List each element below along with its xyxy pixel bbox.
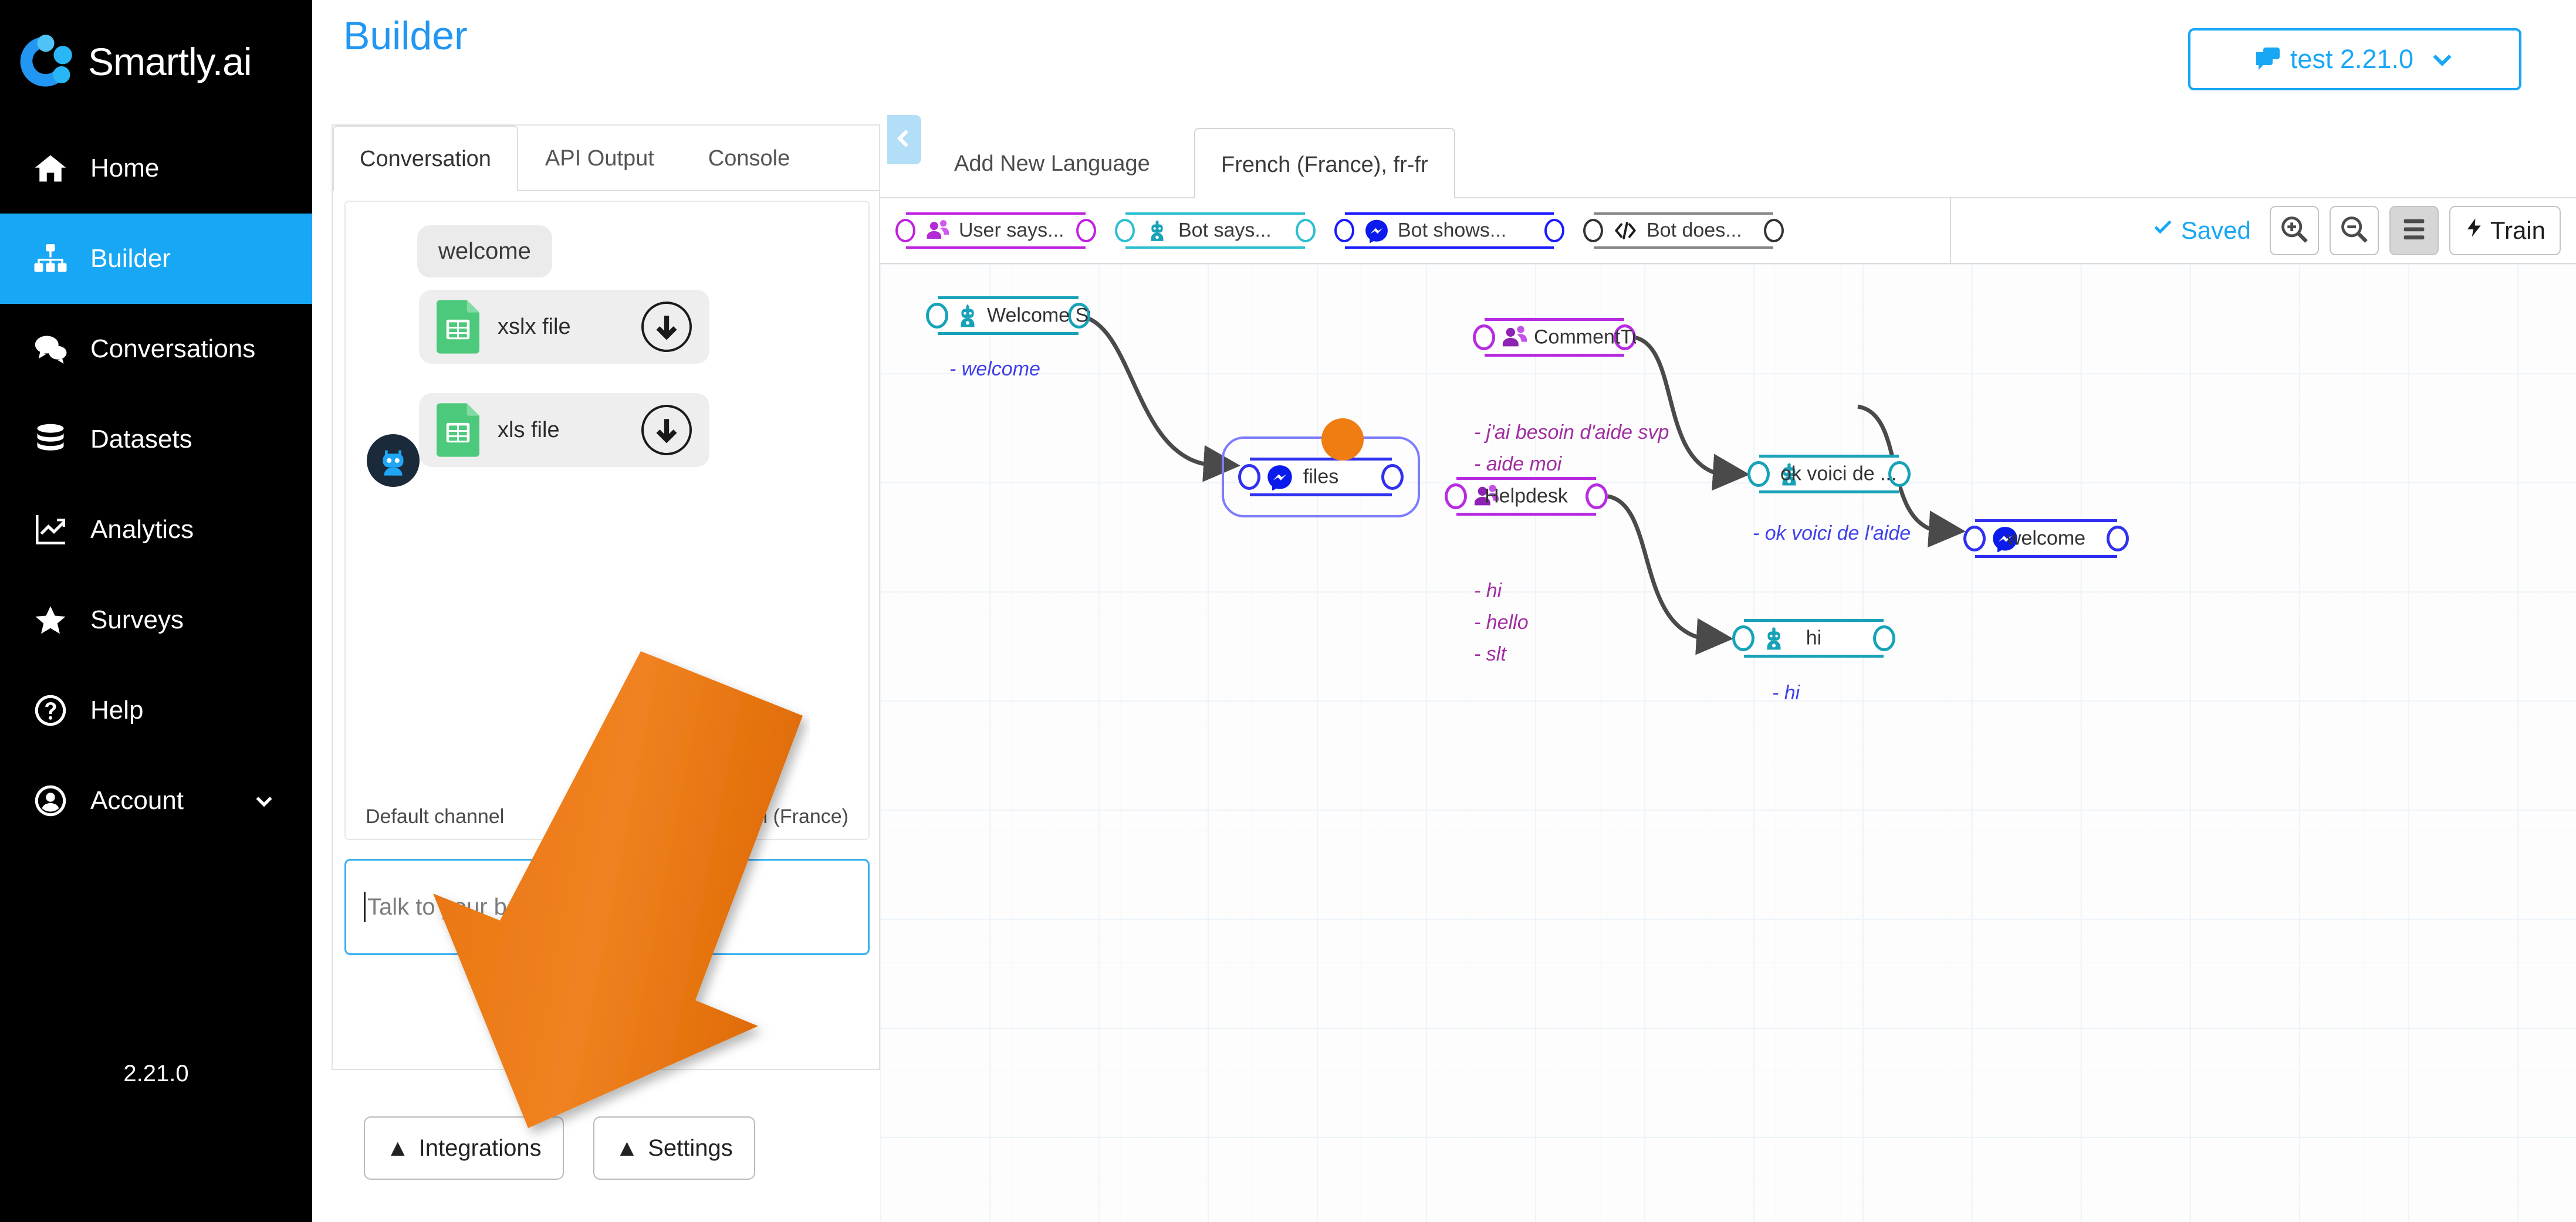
robot-avatar-icon [367,434,420,487]
builder-area: Add New Language French (France), fr-fr … [880,111,2576,1222]
status-badge-saved: Saved [2152,216,2251,245]
text-caret [364,892,366,922]
language-tab-french[interactable]: French (France), fr-fr [1194,128,1455,201]
question-circle-icon [32,692,69,729]
sidebar-item-label: Conversations [90,334,255,364]
bot-selector-dropdown[interactable]: test 2.21.0 [2188,28,2521,90]
chat-input[interactable]: Talk to your bot... [344,859,870,955]
sidebar: Smartly.ai Home Builder Conversations Da [0,0,312,1222]
bot-icon [1144,218,1170,243]
flow-node-label: ok voici de ... [1747,463,1911,486]
flow-node-label: welcome [1963,527,2129,550]
palette-user-says[interactable]: User says... [893,212,1098,249]
sidebar-item-conversations[interactable]: Conversations [0,304,312,394]
chevrons-up-icon: ▲ [386,1136,410,1160]
brand-name: Smartly.ai [88,39,252,84]
node-palette-toolbar: User says... Bot says... Bot shows... [880,198,1951,264]
node-port-left [1583,219,1603,242]
messenger-icon [1364,218,1390,243]
sitemap-icon [32,240,69,277]
flow-utterance: - aide moi [1474,453,1561,476]
zoom-out-button[interactable] [2330,206,2379,255]
sidebar-item-label: Datasets [90,425,192,454]
home-icon [32,150,69,187]
palette-label: User says... [959,219,1064,242]
file-card[interactable]: xls file [419,393,709,467]
node-port-left [895,219,915,242]
train-button[interactable]: Train [2449,206,2561,255]
flow-canvas[interactable]: Welcome State - welcome files [880,264,2576,1222]
integrations-button[interactable]: ▲ Integrations [364,1116,564,1180]
flow-utterance: - ok voici de l'aide [1753,522,1911,545]
flow-node-commenttupeux[interactable]: CommentTuPeu... [1473,318,1636,357]
tab-api-output[interactable]: API Output [518,126,681,190]
chevron-down-icon[interactable] [252,789,276,813]
flow-node-hi[interactable]: hi [1732,619,1895,658]
chat-input-placeholder: Talk to your bot... [367,894,546,920]
palette-bot-says[interactable]: Bot says... [1113,212,1318,249]
sidebar-item-label: Analytics [90,515,194,544]
download-icon[interactable] [641,405,692,455]
sidebar-item-datasets[interactable]: Datasets [0,394,312,485]
chat-footer-buttons: ▲ Integrations ▲ Settings [364,1116,850,1180]
list-lines-icon [2399,214,2429,248]
flow-node-label: Welcome State [926,304,1090,327]
language-label: French (France) [705,805,848,828]
settings-button[interactable]: ▲ Settings [593,1116,755,1180]
palette-label: Bot says... [1178,219,1272,242]
chat-panel-tabs: Conversation API Output Console [333,126,879,191]
line-chart-icon [32,511,69,549]
zoom-in-button[interactable] [2270,206,2319,255]
chevron-left-icon [893,127,915,153]
chat-panel: Conversation API Output Console welcome [332,124,880,1070]
flow-node-helpdesk[interactable]: Helpdesk [1445,477,1608,516]
channel-label: Default channel [366,805,504,828]
star-icon [32,601,69,639]
flow-utterance: - hi [1474,580,1502,602]
settings-button-label: Settings [648,1135,733,1162]
bolt-icon [2465,215,2484,246]
chat-meta: Default channel French (France) [366,805,848,828]
palette-label: Bot does... [1647,219,1742,242]
database-icon [32,421,69,458]
brand: Smartly.ai [0,0,312,123]
code-icon [1612,218,1638,243]
sidebar-item-home[interactable]: Home [0,123,312,214]
palette-label: Bot shows... [1398,219,1506,242]
zoom-out-icon [2339,214,2369,248]
chevron-down-icon [2429,46,2456,73]
node-port-right [1764,219,1784,242]
zoom-in-icon [2279,214,2310,248]
flow-utterance: - hi [1772,682,1800,705]
train-button-label: Train [2490,216,2545,245]
flow-node-label: files [1238,466,1404,489]
chevrons-up-icon: ▲ [616,1136,639,1160]
bot-selector-label: test 2.21.0 [2290,44,2413,75]
spreadsheet-icon [437,300,481,354]
page-title: Builder [343,13,468,59]
sidebar-item-builder[interactable]: Builder [0,214,312,304]
node-port-left [1115,219,1135,242]
node-port-right [1544,219,1564,242]
chat-windows-icon [2254,45,2282,73]
sidebar-item-surveys[interactable]: Surveys [0,575,312,665]
sidebar-item-account[interactable]: Account [0,756,312,846]
sidebar-item-label: Help [90,696,144,725]
app-root: Smartly.ai Home Builder Conversations Da [0,0,2576,1222]
user-circle-icon [32,782,69,820]
flow-node-label: CommentTuPeu... [1473,326,1636,349]
chat-message-bubble: welcome [417,225,552,277]
users-icon [925,218,951,243]
chat-message-list: welcome xslx file [344,201,870,840]
list-view-button[interactable] [2389,206,2439,255]
builder-action-bar: Saved Train [1951,198,2576,264]
flow-node-ok-voici-de[interactable]: ok voici de ... [1747,455,1911,493]
language-tab-bar: Add New Language French (France), fr-fr [880,111,2576,198]
flow-marker-dot[interactable] [1321,418,1364,461]
sidebar-item-label: Surveys [90,605,184,635]
tab-console[interactable]: Console [681,126,817,190]
sidebar-item-label: Account [90,786,184,815]
sidebar-item-help[interactable]: Help [0,665,312,756]
flow-node-welcome-shows[interactable]: welcome [1963,519,2129,558]
node-port-left [1334,219,1354,242]
flow-edges [880,264,2576,1222]
tab-conversation[interactable]: Conversation [333,126,518,191]
sidebar-item-label: Home [90,154,159,183]
file-name: xls file [498,418,641,443]
sidebar-item-analytics[interactable]: Analytics [0,485,312,575]
integrations-button-label: Integrations [419,1135,542,1162]
spreadsheet-icon [437,403,481,457]
flow-utterance: - slt [1474,643,1506,666]
flow-node-label: hi [1732,627,1895,650]
flow-utterance: - hello [1474,611,1529,634]
saved-label: Saved [2181,216,2251,245]
node-port-right [1076,219,1096,242]
sidebar-item-label: Builder [90,244,171,273]
check-icon [2152,216,2174,245]
sidebar-version-label: 2.21.0 [0,1061,312,1087]
download-icon[interactable] [641,302,692,352]
flow-node-label: Helpdesk [1445,485,1608,508]
chat-bubbles-icon [32,330,69,368]
file-name: xslx file [498,314,641,340]
flow-utterance: - j'ai besoin d'aide svp [1474,421,1669,444]
node-port-right [1296,219,1316,242]
flow-node-welcome-state[interactable]: Welcome State [926,296,1090,335]
palette-bot-shows[interactable]: Bot shows... [1332,212,1567,249]
smartly-logo-icon [13,29,79,94]
flow-utterance: - welcome [949,358,1040,381]
palette-bot-does[interactable]: Bot does... [1581,212,1786,249]
file-card[interactable]: xslx file [419,290,709,364]
flow-node-files[interactable]: files [1238,458,1404,496]
add-new-language-tab[interactable]: Add New Language [928,128,1176,199]
collapse-panel-button[interactable] [887,115,921,164]
